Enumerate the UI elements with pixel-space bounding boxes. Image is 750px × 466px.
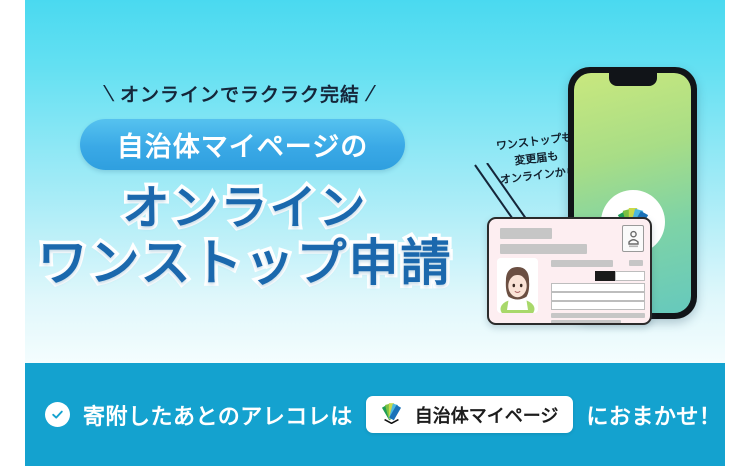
- fan-logo-icon: [377, 400, 406, 429]
- slash-left-icon: \: [102, 81, 118, 107]
- phone-notch: [609, 73, 657, 86]
- headline: オンライン ワンストップ申請: [25, 184, 465, 289]
- annotation-text: ワンストップも 変更届も オンラインから: [495, 129, 578, 189]
- check-circle-icon: [45, 402, 70, 427]
- card-field-bar: [500, 228, 552, 239]
- kicker-line: \ オンラインでラクラク完結 /: [25, 80, 455, 107]
- card-field-bar: [551, 320, 621, 325]
- card-field-bar: [500, 244, 587, 254]
- bottom-bar-text-before: 寄附したあとのアレコレは: [83, 399, 353, 431]
- card-field-bar: [551, 260, 613, 267]
- subtitle-pill: 自治体マイページの: [80, 119, 405, 170]
- my-number-card-illustration: [487, 217, 652, 325]
- jichitai-mypage-logo-pill[interactable]: 自治体マイページ: [366, 396, 574, 433]
- kicker-text: オンラインでラクラク完結: [120, 80, 360, 107]
- headline-line-1: オンライン: [25, 184, 465, 232]
- logo-pill-label: 自治体マイページ: [415, 402, 559, 428]
- card-field-line: [551, 283, 645, 292]
- card-field-bar: [629, 260, 643, 266]
- bottom-bar-text-after: におまかせ！: [586, 399, 721, 431]
- card-field-line: [551, 292, 645, 301]
- card-field-bar: [551, 313, 645, 318]
- card-portrait-photo: [497, 258, 538, 313]
- card-redacted-field: [595, 271, 615, 281]
- slash-right-icon: /: [363, 81, 379, 107]
- subtitle-pill-text: 自治体マイページの: [117, 125, 368, 164]
- promo-banner: \ オンラインでラクラク完結 / 自治体マイページの オンライン ワンストップ申…: [0, 0, 750, 466]
- headline-line-2: ワンストップ申請: [25, 238, 465, 289]
- bottom-cta-bar: 寄附したあとのアレコレは 自治体マイページ におまかせ！: [25, 363, 725, 466]
- card-field-line: [615, 271, 645, 281]
- card-chip-icon: [622, 225, 644, 252]
- card-field-line: [551, 301, 645, 310]
